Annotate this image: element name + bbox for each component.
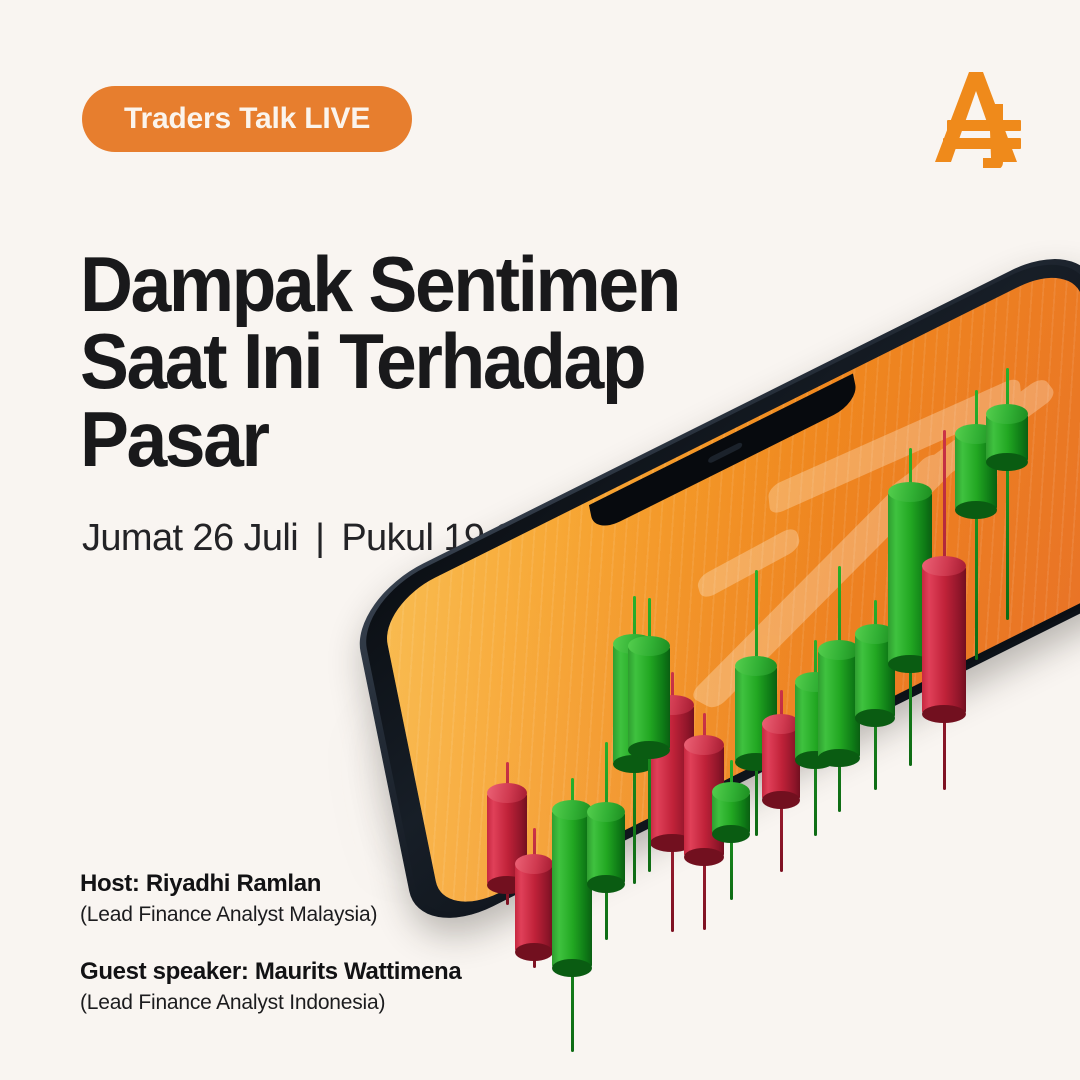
host-name: Host: Riyadhi Ramlan	[80, 868, 461, 900]
phone-screen	[380, 259, 1080, 920]
phone-speaker	[707, 442, 742, 465]
credit-host: Host: Riyadhi Ramlan (Lead Finance Analy…	[80, 868, 461, 930]
credits-block: Host: Riyadhi Ramlan (Lead Finance Analy…	[80, 868, 461, 1018]
phone-device	[350, 234, 1080, 952]
guest-name: Guest speaker: Maurits Wattimena	[80, 956, 461, 988]
phone-body	[350, 234, 1080, 943]
credit-guest: Guest speaker: Maurits Wattimena (Lead F…	[80, 956, 461, 1018]
phone-bezel	[357, 242, 1080, 936]
promo-poster: Traders Talk LIVE Dampak Sentimen Saat I…	[0, 0, 1080, 1080]
host-role: (Lead Finance Analyst Malaysia)	[80, 900, 461, 929]
guest-role: (Lead Finance Analyst Indonesia)	[80, 988, 461, 1017]
